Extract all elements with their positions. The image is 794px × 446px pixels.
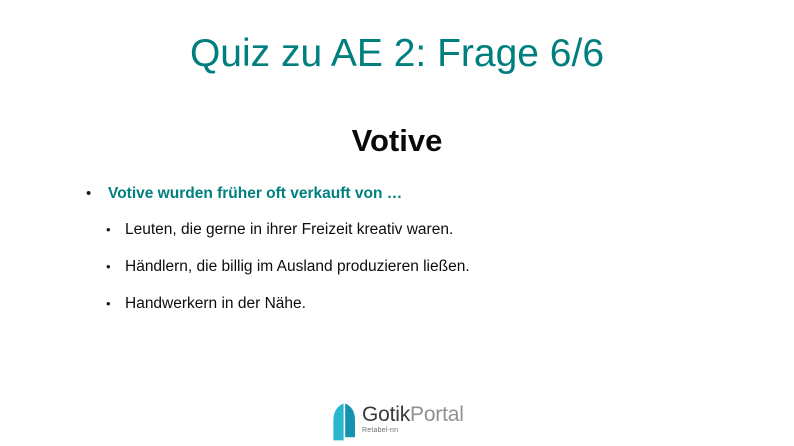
bullet-point-icon: • [86, 186, 108, 201]
answer-option-label: Handwerkern in der Nähe. [125, 294, 306, 314]
answer-option[interactable]: • Handwerkern in der Nähe. [0, 294, 794, 314]
gotikportal-logo: GotikPortal Retabel-nn [331, 402, 463, 442]
slide-subtitle: Votive [0, 120, 794, 162]
logo-word-secondary: Portal [410, 403, 464, 426]
question-bullet: • Votive wurden früher oft verkauft von … [0, 184, 794, 204]
answer-option[interactable]: • Händlern, die billig im Ausland produz… [0, 257, 794, 277]
slide-title: Quiz zu AE 2: Frage 6/6 [0, 29, 794, 79]
logo-tagline: Retabel-nn [362, 426, 464, 435]
logo-text-block: GotikPortal Retabel-nn [362, 402, 464, 435]
presentation-slide: Quiz zu AE 2: Frage 6/6 Votive • Votive … [0, 0, 794, 446]
gothic-portal-arch-icon [331, 403, 357, 441]
bullet-point-icon: • [106, 223, 125, 236]
answer-option[interactable]: • Leuten, die gerne in ihrer Freizeit kr… [0, 220, 794, 240]
bullet-point-icon: • [106, 297, 125, 310]
answer-option-label: Händlern, die billig im Ausland produzie… [125, 257, 470, 277]
answer-option-label: Leuten, die gerne in ihrer Freizeit krea… [125, 220, 453, 240]
logo-word-primary: Gotik [362, 403, 410, 426]
question-text: Votive wurden früher oft verkauft von … [108, 184, 402, 204]
slide-body-content: • Votive wurden früher oft verkauft von … [0, 184, 794, 331]
logo-wordmark: GotikPortal [362, 403, 464, 426]
bullet-point-icon: • [106, 260, 125, 273]
